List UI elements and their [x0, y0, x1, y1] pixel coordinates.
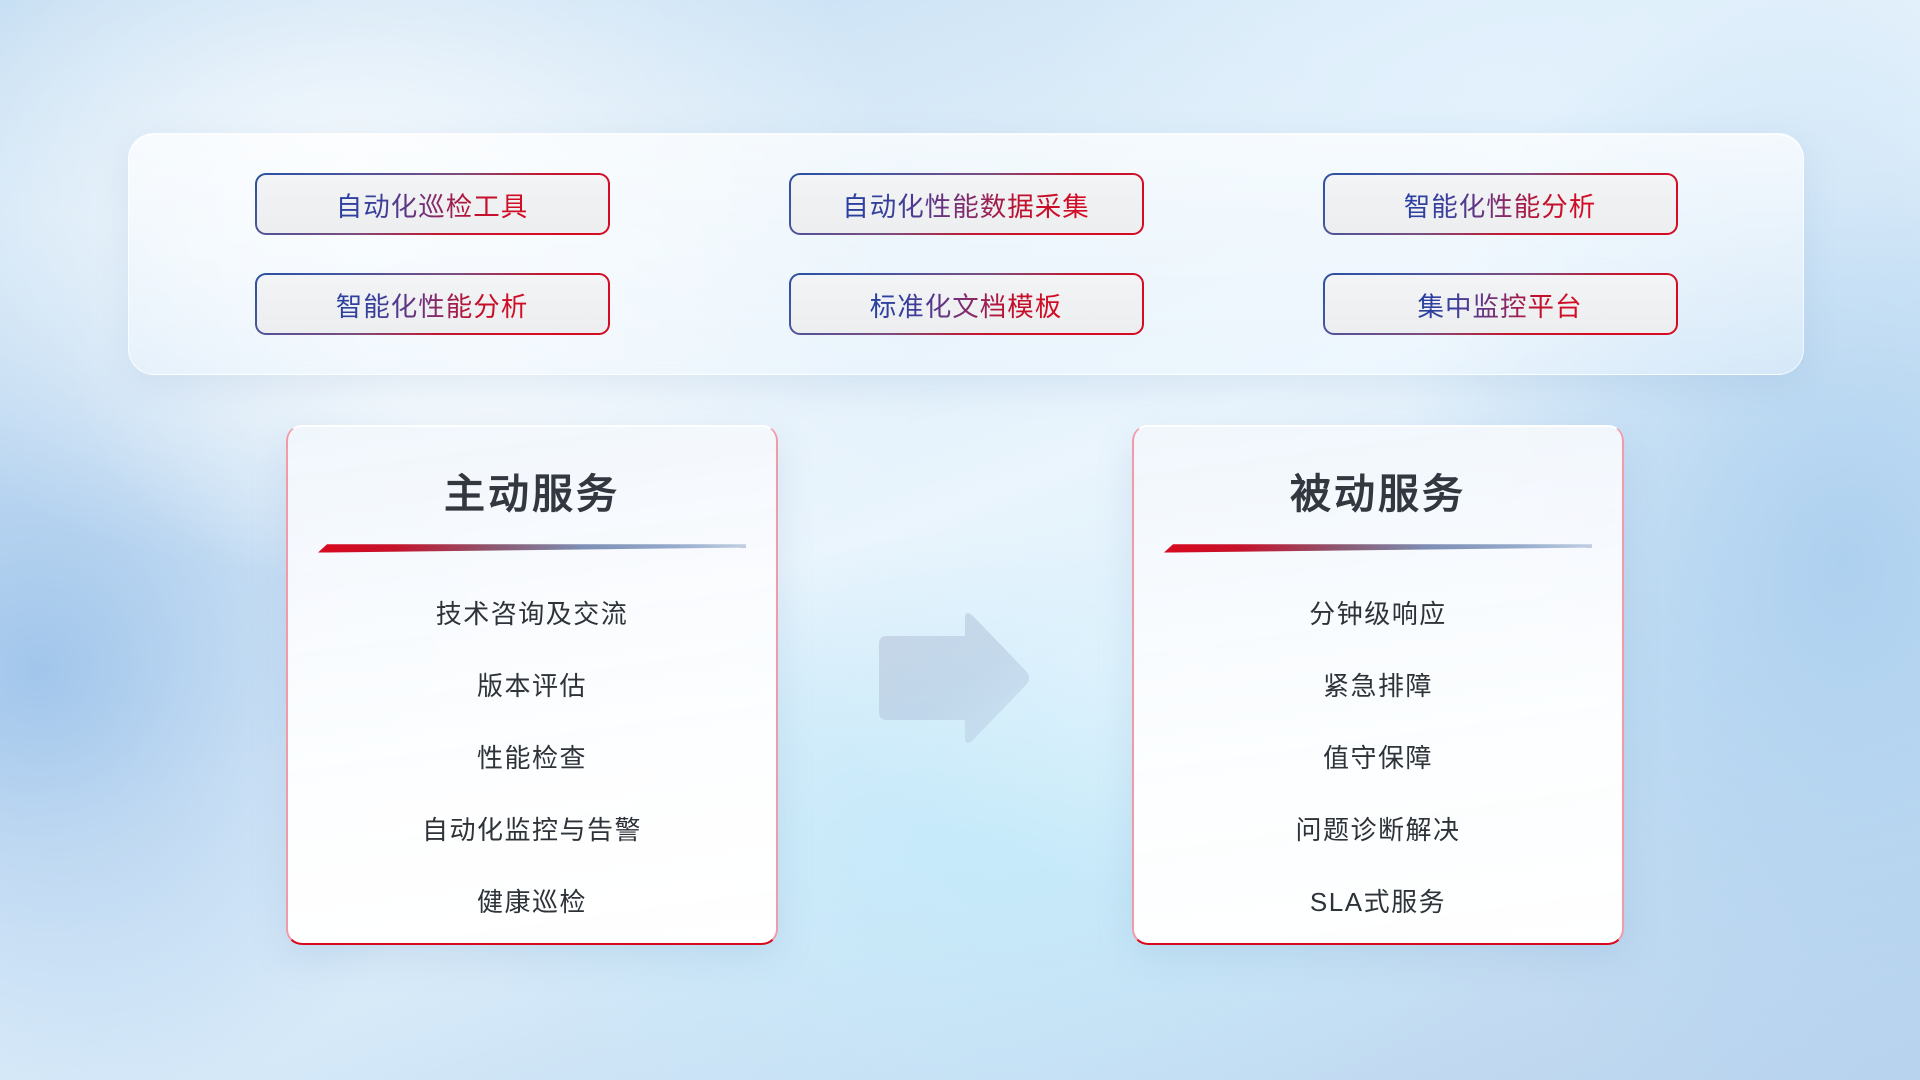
capability-panel: 自动化巡检工具 自动化性能数据采集 智能化性能分析 智能化性能分析 标准化文档模…	[128, 133, 1804, 375]
capability-pill-2[interactable]: 自动化性能数据采集	[789, 173, 1144, 235]
capability-pill-6[interactable]: 集中监控平台	[1323, 273, 1678, 335]
card-title: 被动服务	[1290, 460, 1466, 520]
capability-pill-label: 智能化性能分析	[336, 285, 529, 324]
capability-pill-face: 智能化性能分析	[257, 275, 608, 333]
service-card-proactive: 主动服务 技术咨询及交流 版本评估 性能检查 自动化监控与告警 健康巡检	[286, 425, 778, 945]
capability-pill-face: 集中监控平台	[1325, 275, 1676, 333]
capability-pill-face: 标准化文档模板	[791, 275, 1142, 333]
list-item[interactable]: 版本评估	[477, 659, 587, 713]
list-item[interactable]: 紧急排障	[1323, 659, 1433, 713]
list-item[interactable]: 技术咨询及交流	[436, 587, 629, 641]
capability-pill-label: 自动化性能数据采集	[842, 185, 1090, 224]
capability-pill-face: 自动化巡检工具	[257, 175, 608, 233]
list-item[interactable]: 值守保障	[1323, 731, 1433, 785]
card-divider	[318, 542, 746, 553]
list-item[interactable]: 分钟级响应	[1309, 587, 1447, 641]
card-item-list: 分钟级响应 紧急排障 值守保障 问题诊断解决 SLA式服务	[1134, 587, 1622, 929]
card-divider	[1164, 542, 1592, 553]
capability-pill-label: 智能化性能分析	[1404, 185, 1597, 224]
list-item[interactable]: 自动化监控与告警	[422, 803, 642, 857]
capability-pill-3[interactable]: 智能化性能分析	[1323, 173, 1678, 235]
list-item[interactable]: 问题诊断解决	[1295, 803, 1460, 857]
card-title: 主动服务	[444, 460, 620, 520]
capability-pill-label: 标准化文档模板	[870, 285, 1063, 324]
card-item-list: 技术咨询及交流 版本评估 性能检查 自动化监控与告警 健康巡检	[288, 587, 776, 929]
capability-pill-1[interactable]: 自动化巡检工具	[255, 173, 610, 235]
capability-pill-face: 智能化性能分析	[1325, 175, 1676, 233]
list-item[interactable]: 性能检查	[477, 731, 587, 785]
capability-pill-label: 自动化巡检工具	[336, 185, 529, 224]
arrow-right-icon	[873, 608, 1033, 748]
capability-pill-face: 自动化性能数据采集	[791, 175, 1142, 233]
list-item[interactable]: SLA式服务	[1310, 875, 1446, 929]
service-card-reactive: 被动服务 分钟级响应 紧急排障 值守保障 问题诊断解决 SLA式服务	[1132, 425, 1624, 945]
capability-pill-4[interactable]: 智能化性能分析	[255, 273, 610, 335]
capability-pill-label: 集中监控平台	[1418, 285, 1583, 324]
list-item[interactable]: 健康巡检	[477, 875, 587, 929]
capability-pill-5[interactable]: 标准化文档模板	[789, 273, 1144, 335]
